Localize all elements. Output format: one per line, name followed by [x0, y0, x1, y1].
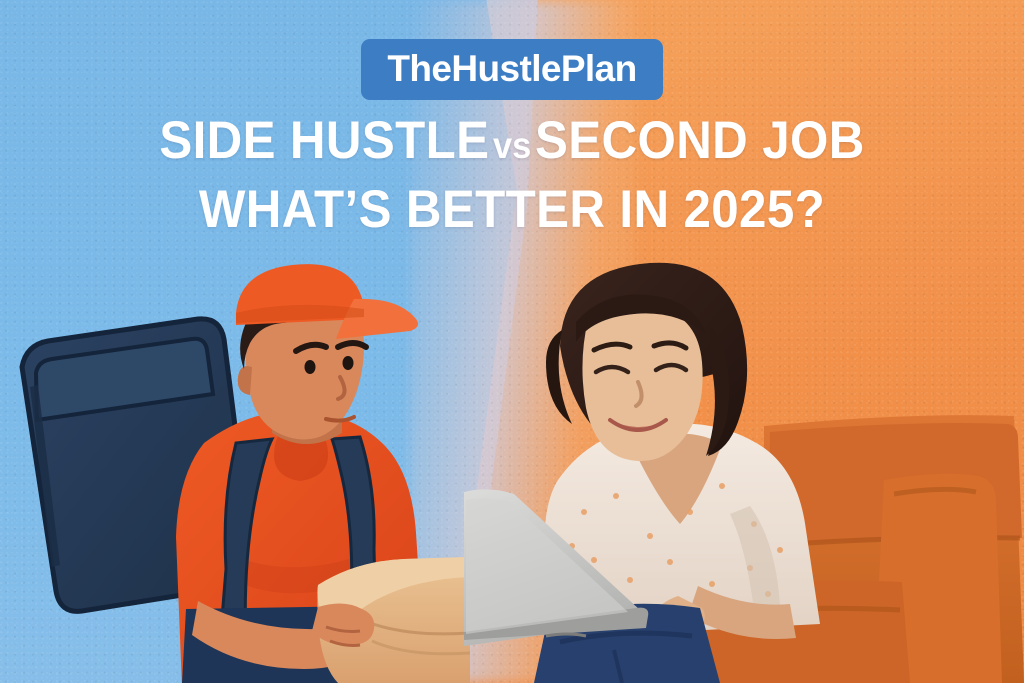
woman-head — [546, 263, 747, 461]
headline-line-2: WHAT’S BETTER IN 2025? — [36, 183, 988, 238]
headline-part-second-job: SECOND JOB — [535, 111, 865, 170]
delivery-courier-illustration — [0, 255, 470, 683]
brand-badge[interactable]: TheHustlePlan — [361, 39, 662, 100]
remote-worker-scene — [464, 250, 1024, 683]
headline-vs: vs — [489, 125, 535, 166]
poster-canvas: TheHustlePlan SIDE HUSTLEvsSECOND JOB WH… — [0, 0, 1024, 683]
courier-head — [236, 264, 418, 439]
headline-block: SIDE HUSTLEvsSECOND JOB WHAT’S BETTER IN… — [0, 114, 1024, 237]
poster-header: TheHustlePlan SIDE HUSTLEvsSECOND JOB WH… — [0, 0, 1024, 237]
headline-part-side-hustle: SIDE HUSTLE — [159, 111, 489, 170]
headline-line-1: SIDE HUSTLEvsSECOND JOB — [36, 114, 988, 169]
